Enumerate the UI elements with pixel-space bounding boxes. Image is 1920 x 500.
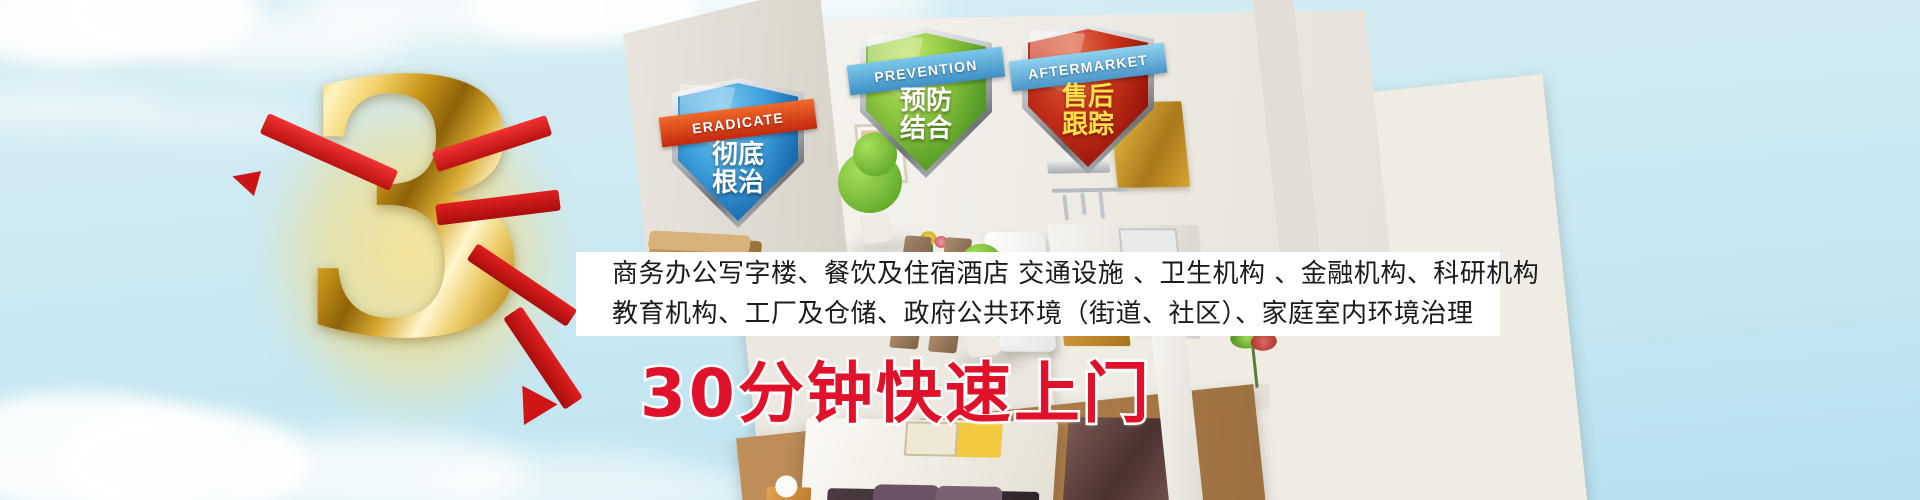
shield-badge-eradicate: ERADICATE 彻底 根治 bbox=[672, 78, 804, 228]
pillow bbox=[935, 486, 1003, 500]
golden-numeral-three: 3 bbox=[250, 75, 580, 435]
promo-banner: ERADICATE 彻底 根治 PREVENTION 预防 结合 AFTERMA… bbox=[0, 0, 1920, 500]
shield-cn-line2: 根治 bbox=[672, 168, 804, 196]
shield-banner-text: PREVENTION bbox=[873, 57, 978, 86]
shield-cn-line2: 结合 bbox=[860, 114, 992, 142]
shield-cn-line2: 跟踪 bbox=[1022, 110, 1154, 138]
headline-text: 30分钟快速上门 bbox=[640, 340, 1152, 436]
shield-badge-aftermarket: AFTERMARKET 售后 跟踪 bbox=[1022, 24, 1154, 174]
pillow bbox=[872, 484, 940, 500]
scope-line-1: 商务办公写字楼、餐饮及住宿酒店 交通设施 、卫生机构 、金融机构、科研机构 bbox=[612, 254, 1500, 294]
shield-cn-line1: 预防 bbox=[860, 86, 992, 114]
shield-cn-text: 售后 跟踪 bbox=[1022, 82, 1154, 138]
shield-cn-line1: 彻底 bbox=[672, 140, 804, 168]
shield-cn-text: 彻底 根治 bbox=[672, 140, 804, 196]
service-scope-panel: 商务办公写字楼、餐饮及住宿酒店 交通设施 、卫生机构 、金融机构、科研机构 教育… bbox=[576, 252, 1500, 336]
shield-badge-prevention: PREVENTION 预防 结合 bbox=[860, 28, 992, 178]
shield-banner-text: ERADICATE bbox=[691, 109, 785, 136]
scope-line-2: 教育机构、工厂及仓储、政府公共环境（街道、社区）、家庭室内环境治理 bbox=[612, 294, 1500, 334]
shield-cn-line1: 售后 bbox=[1022, 82, 1154, 110]
shield-cn-text: 预防 结合 bbox=[860, 86, 992, 142]
